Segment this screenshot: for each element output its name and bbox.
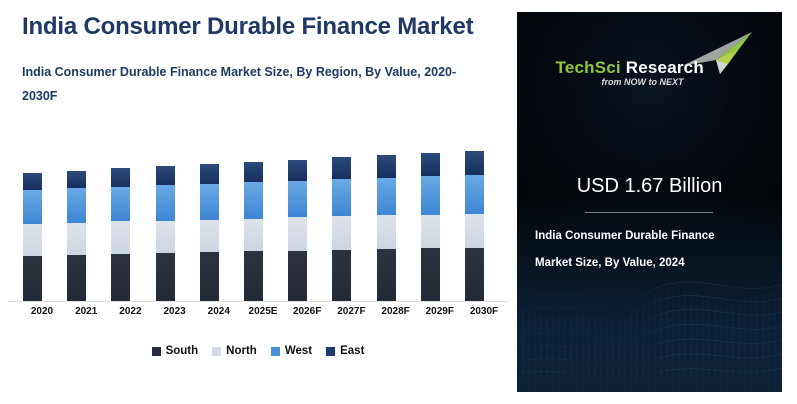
legend-label: East (340, 345, 364, 357)
legend-item-west[interactable]: West (271, 345, 312, 357)
bar-2027F (332, 157, 351, 301)
bar-2023 (156, 166, 175, 301)
bar-segment-north (332, 216, 351, 249)
bar-2026F (288, 160, 307, 301)
bar-segment-west (23, 190, 42, 224)
bar-segment-south (332, 250, 351, 301)
bar-segment-east (421, 153, 440, 176)
legend-label: North (226, 345, 257, 357)
bar-segment-east (23, 173, 42, 190)
bar-segment-east (111, 168, 130, 186)
bar-segment-east (288, 160, 307, 181)
legend-item-east[interactable]: East (326, 345, 364, 357)
bar-segment-north (288, 217, 307, 250)
page-title: India Consumer Durable Finance Market (22, 13, 492, 41)
bar-segment-south (156, 253, 175, 301)
caption-line-1: India Consumer Durable Finance (535, 223, 765, 250)
chart-plot-area (0, 120, 516, 302)
bar-segment-south (200, 252, 219, 301)
chart-panel: India Consumer Durable Finance Market In… (0, 0, 516, 404)
bar-segment-south (288, 251, 307, 301)
legend-swatch-north-icon (212, 347, 221, 356)
bar-2024 (200, 164, 219, 301)
x-tick-2030F: 2030F (454, 306, 514, 317)
highlight-panel: TechSci Research from NOW to NEXT USD 1.… (517, 12, 782, 392)
bar-segment-west (200, 184, 219, 220)
bar-2022 (111, 168, 130, 301)
logo-word-research: Research (621, 58, 704, 77)
bar-segment-east (67, 171, 86, 188)
bar-segment-west (156, 185, 175, 220)
techsci-logo: TechSci Research from NOW to NEXT (517, 30, 782, 92)
bar-segment-north (421, 215, 440, 249)
market-value-headline: USD 1.67 Billion (517, 175, 782, 198)
chart-legend: SouthNorthWestEast (0, 345, 516, 357)
bar-segment-north (156, 221, 175, 253)
bar-segment-south (111, 254, 130, 301)
wave-mesh-decoration (517, 262, 782, 392)
legend-swatch-east-icon (326, 347, 335, 356)
chart-subtitle: India Consumer Durable Finance Market Si… (22, 60, 482, 109)
bar-2021 (67, 171, 86, 301)
legend-label: West (285, 345, 312, 357)
bar-segment-north (244, 219, 263, 252)
legend-label: South (166, 345, 199, 357)
bar-segment-south (23, 256, 42, 301)
logo-word-techsci: TechSci (556, 58, 621, 77)
bar-segment-west (67, 188, 86, 222)
bar-2025E (244, 162, 263, 301)
bar-segment-east (377, 155, 396, 177)
bar-2029F (421, 153, 440, 301)
x-axis-tick-labels: 202020212022202320242025E2026F2027F2028F… (0, 306, 516, 324)
caption-line-2: Market Size, By Value, 2024 (535, 250, 765, 277)
bar-segment-west (377, 178, 396, 216)
bar-segment-east (332, 157, 351, 179)
bar-2030F (465, 151, 484, 301)
bar-2020 (23, 173, 42, 301)
bar-segment-north (465, 214, 484, 248)
market-value-caption: India Consumer Durable Finance Market Si… (535, 223, 765, 277)
x-axis-line (8, 301, 508, 302)
bar-2028F (377, 155, 396, 301)
bar-segment-south (421, 248, 440, 301)
bar-segment-east (465, 151, 484, 175)
bar-segment-north (111, 221, 130, 253)
legend-item-south[interactable]: South (152, 345, 199, 357)
bar-segment-west (288, 181, 307, 218)
bar-segment-west (111, 187, 130, 222)
logo-tagline: from NOW to NEXT (602, 77, 684, 87)
market-infographic: India Consumer Durable Finance Market In… (0, 0, 797, 404)
bar-segment-west (244, 182, 263, 218)
bar-segment-south (244, 251, 263, 301)
bar-segment-east (156, 166, 175, 185)
bar-segment-east (244, 162, 263, 182)
bar-segment-north (23, 224, 42, 256)
logo-wordmark: TechSci Research (556, 58, 704, 78)
legend-swatch-west-icon (271, 347, 280, 356)
bar-segment-west (421, 176, 440, 214)
legend-swatch-south-icon (152, 347, 161, 356)
bar-segment-south (377, 249, 396, 301)
bar-segment-south (465, 248, 484, 301)
bar-segment-north (200, 220, 219, 253)
bar-segment-south (67, 255, 86, 301)
bar-segment-west (465, 175, 484, 214)
legend-item-north[interactable]: North (212, 345, 257, 357)
bar-segment-north (67, 223, 86, 255)
bar-segment-west (332, 179, 351, 216)
divider (585, 212, 713, 213)
bar-segment-north (377, 215, 396, 249)
bar-segment-east (200, 164, 219, 184)
